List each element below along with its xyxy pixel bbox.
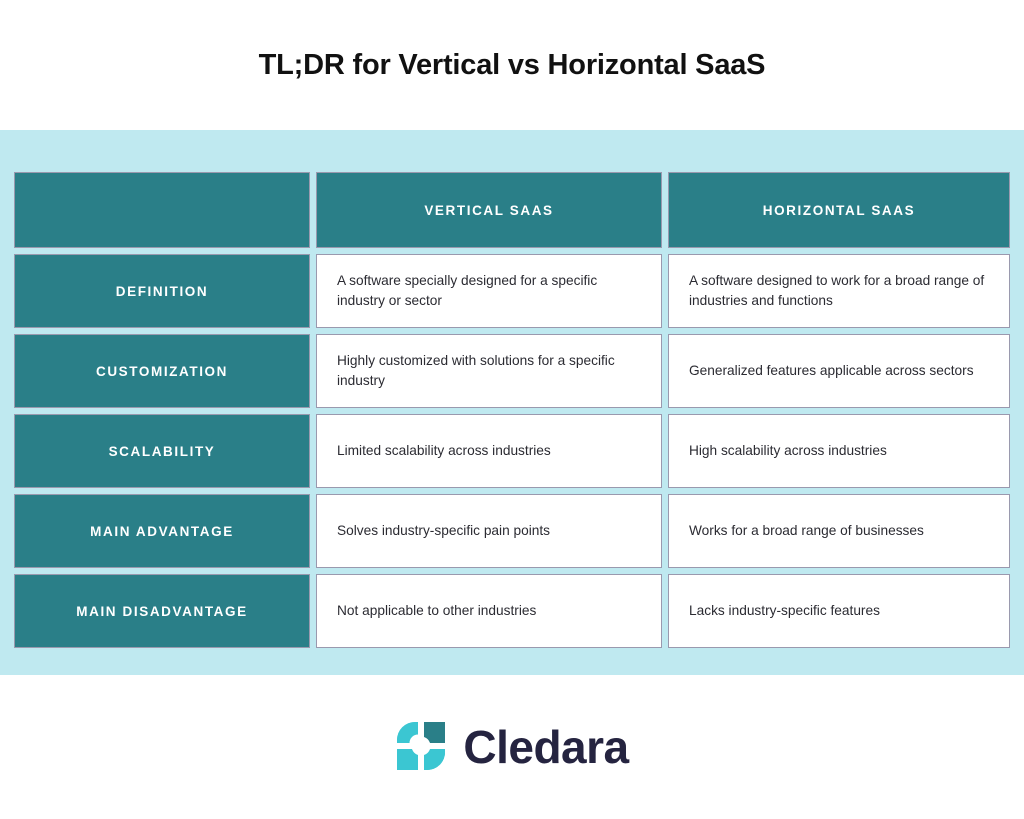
cell-text: Highly customized with solutions for a s… xyxy=(337,351,641,391)
cell-text: Not applicable to other industries xyxy=(337,601,536,621)
cell-text: Works for a broad range of businesses xyxy=(689,521,924,541)
table-header-row: VERTICAL SAAS HORIZONTAL SAAS xyxy=(14,172,1010,248)
comparison-band: VERTICAL SAAS HORIZONTAL SAAS DEFINITION… xyxy=(0,130,1024,675)
page-title: TL;DR for Vertical vs Horizontal SaaS xyxy=(259,49,766,82)
table-row: MAIN DISADVANTAGE Not applicable to othe… xyxy=(14,574,1010,648)
cell-main-disadvantage-horizontal: Lacks industry-specific features xyxy=(668,574,1010,648)
title-zone: TL;DR for Vertical vs Horizontal SaaS xyxy=(0,0,1024,130)
row-label-text: MAIN DISADVANTAGE xyxy=(76,604,247,619)
cell-text: A software specially designed for a spec… xyxy=(337,271,641,311)
cell-scalability-vertical: Limited scalability across industries xyxy=(316,414,662,488)
cell-text: Solves industry-specific pain points xyxy=(337,521,550,541)
cell-text: Lacks industry-specific features xyxy=(689,601,880,621)
column-header-horizontal: HORIZONTAL SAAS xyxy=(668,172,1010,248)
cledara-quadrant-logo-icon xyxy=(395,720,447,774)
row-label-text: MAIN ADVANTAGE xyxy=(90,524,234,539)
table-row: MAIN ADVANTAGE Solves industry-specific … xyxy=(14,494,1010,568)
row-label-definition: DEFINITION xyxy=(14,254,310,328)
row-label-text: SCALABILITY xyxy=(109,444,216,459)
cell-scalability-horizontal: High scalability across industries xyxy=(668,414,1010,488)
cell-text: Limited scalability across industries xyxy=(337,441,551,461)
row-label-main-advantage: MAIN ADVANTAGE xyxy=(14,494,310,568)
cell-definition-vertical: A software specially designed for a spec… xyxy=(316,254,662,328)
table-row: DEFINITION A software specially designed… xyxy=(14,254,1010,328)
table-row: SCALABILITY Limited scalability across i… xyxy=(14,414,1010,488)
cell-customization-vertical: Highly customized with solutions for a s… xyxy=(316,334,662,408)
cell-main-advantage-vertical: Solves industry-specific pain points xyxy=(316,494,662,568)
cell-main-advantage-horizontal: Works for a broad range of businesses xyxy=(668,494,1010,568)
column-header-vertical: VERTICAL SAAS xyxy=(316,172,662,248)
footer-logo: Cledara xyxy=(0,675,1024,819)
cell-text: A software designed to work for a broad … xyxy=(689,271,989,311)
row-label-scalability: SCALABILITY xyxy=(14,414,310,488)
comparison-table: VERTICAL SAAS HORIZONTAL SAAS DEFINITION… xyxy=(14,172,1010,648)
cell-text: High scalability across industries xyxy=(689,441,887,461)
row-label-main-disadvantage: MAIN DISADVANTAGE xyxy=(14,574,310,648)
column-header-horizontal-label: HORIZONTAL SAAS xyxy=(763,203,916,218)
brand-wordmark: Cledara xyxy=(463,724,628,770)
cell-customization-horizontal: Generalized features applicable across s… xyxy=(668,334,1010,408)
row-label-customization: CUSTOMIZATION xyxy=(14,334,310,408)
row-label-text: CUSTOMIZATION xyxy=(96,364,228,379)
cell-definition-horizontal: A software designed to work for a broad … xyxy=(668,254,1010,328)
table-row: CUSTOMIZATION Highly customized with sol… xyxy=(14,334,1010,408)
table-corner-cell xyxy=(14,172,310,248)
cell-text: Generalized features applicable across s… xyxy=(689,361,974,381)
row-label-text: DEFINITION xyxy=(116,284,209,299)
column-header-vertical-label: VERTICAL SAAS xyxy=(424,203,553,218)
cell-main-disadvantage-vertical: Not applicable to other industries xyxy=(316,574,662,648)
infographic-page: TL;DR for Vertical vs Horizontal SaaS VE… xyxy=(0,0,1024,819)
